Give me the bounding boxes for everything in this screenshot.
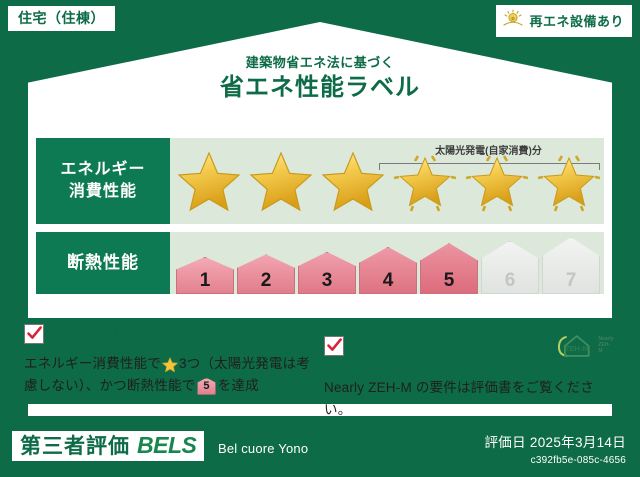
insulation-level-4: 4 — [359, 247, 417, 294]
star-4 — [390, 146, 460, 216]
net-zero-energy-header: ネット・ゼロ・エネルギー ZEH-M NearlyZEH-M — [324, 322, 614, 370]
insulation-level-3-value: 3 — [322, 271, 333, 290]
bels-jp-label: 第三者評価 — [20, 436, 130, 457]
criteria-checks: ZEH水準 エネルギー消費性能で3つ（太陽光発電は考慮しない）、かつ断熱性能で5… — [24, 322, 624, 421]
star-icon — [161, 356, 179, 371]
insulation-level-5: 5 — [420, 243, 478, 294]
insulation-levels-area: 1 2 3 4 — [170, 232, 604, 294]
evaluation-info: 評価日 2025年3月14日 c392fb5e-085c-4656 — [484, 431, 626, 466]
zeh-standard-check: ZEH水準 エネルギー消費性能で3つ（太陽光発電は考慮しない）、かつ断熱性能で5… — [24, 322, 324, 421]
net-zero-energy-title: ネット・ゼロ・エネルギー — [352, 322, 545, 370]
evaluation-code: c392fb5e-085c-4656 — [484, 455, 626, 466]
level-badge-icon: 5 — [197, 378, 215, 395]
energy-label-line2: 消費性能 — [69, 181, 137, 203]
net-zero-energy-check: ネット・ゼロ・エネルギー ZEH-M NearlyZEH-M Nearly ZE… — [324, 322, 624, 421]
energy-stars-area: 太陽光発電(自家消費)分 — [170, 138, 604, 224]
insulation-level-1: 1 — [176, 257, 234, 294]
zeh-body-prefix: エネルギー消費性能で — [24, 356, 161, 371]
insulation-level-3: 3 — [298, 252, 356, 294]
insulation-performance-row: 断熱性能 1 2 3 — [36, 232, 604, 294]
insulation-level-bars: 1 2 3 4 — [170, 232, 600, 294]
star-3 — [318, 146, 388, 216]
energy-label-line1: エネルギー — [60, 159, 145, 181]
net-zero-energy-body: Nearly ZEH-M の要件は評価書をご覧ください。 — [324, 377, 614, 421]
check-icon — [24, 324, 44, 344]
insulation-level-1-value: 1 — [200, 271, 211, 290]
energy-performance-label: 住宅（住棟） D 再エネ設備あり 建築物省エネ法に基づく 省エネ性能ラベル — [0, 0, 640, 477]
star-rating — [170, 146, 604, 216]
svg-text:ZEH-M: ZEH-M — [565, 344, 589, 353]
check-icon — [324, 336, 344, 356]
insulation-label-box: 断熱性能 — [36, 232, 170, 294]
zeh-standard-body: エネルギー消費性能で3つ（太陽光発電は考慮しない）、かつ断熱性能で5を達成 — [24, 353, 314, 397]
star-1 — [174, 146, 244, 216]
star-5 — [462, 146, 532, 216]
label-title-block: 建築物省エネ法に基づく 省エネ性能ラベル — [0, 56, 640, 102]
solar-sun-icon: D — [502, 9, 524, 33]
energy-performance-label-box: エネルギー 消費性能 — [36, 138, 170, 224]
zeh-standard-header: ZEH水準 — [24, 322, 314, 346]
property-name: Bel cuore Yono — [218, 441, 308, 456]
zeh-m-house-logo: ZEH-M NearlyZEH-M — [555, 333, 614, 359]
renewable-badge-label: 再エネ設備あり — [529, 15, 624, 28]
evaluation-date: 評価日 2025年3月14日 — [484, 431, 626, 451]
insulation-level-5-value: 5 — [444, 271, 455, 290]
bels-en-label: BELS — [137, 434, 196, 457]
insulation-level-7-value: 7 — [566, 271, 577, 290]
zeh-body-suffix: を達成 — [218, 378, 259, 393]
insulation-level-4-value: 4 — [383, 271, 394, 290]
energy-performance-row: エネルギー 消費性能 太陽光発電(自家消費)分 — [36, 138, 604, 224]
zeh-m-logo-sub: NearlyZEH-M — [598, 337, 614, 354]
insulation-level-7: 7 — [542, 237, 600, 294]
bels-badge: 第三者評価 BELS — [12, 431, 204, 461]
insulation-level-2-value: 2 — [261, 271, 272, 290]
star-6 — [534, 146, 604, 216]
insulation-level-6: 6 — [481, 241, 539, 294]
insulation-level-2: 2 — [237, 254, 295, 294]
building-type-chip: 住宅（住棟） — [8, 6, 115, 31]
rating-rows: エネルギー 消費性能 太陽光発電(自家消費)分 — [36, 138, 604, 302]
star-2 — [246, 146, 316, 216]
label-title-main: 省エネ性能ラベル — [0, 75, 640, 101]
insulation-level-6-value: 6 — [505, 271, 516, 290]
zeh-standard-title: ZEH水準 — [52, 322, 119, 346]
label-title-sub: 建築物省エネ法に基づく — [0, 56, 640, 70]
renewable-equipment-badge: D 再エネ設備あり — [496, 5, 632, 37]
label-footer: 第三者評価 BELS Bel cuore Yono 評価日 2025年3月14日… — [0, 419, 640, 477]
